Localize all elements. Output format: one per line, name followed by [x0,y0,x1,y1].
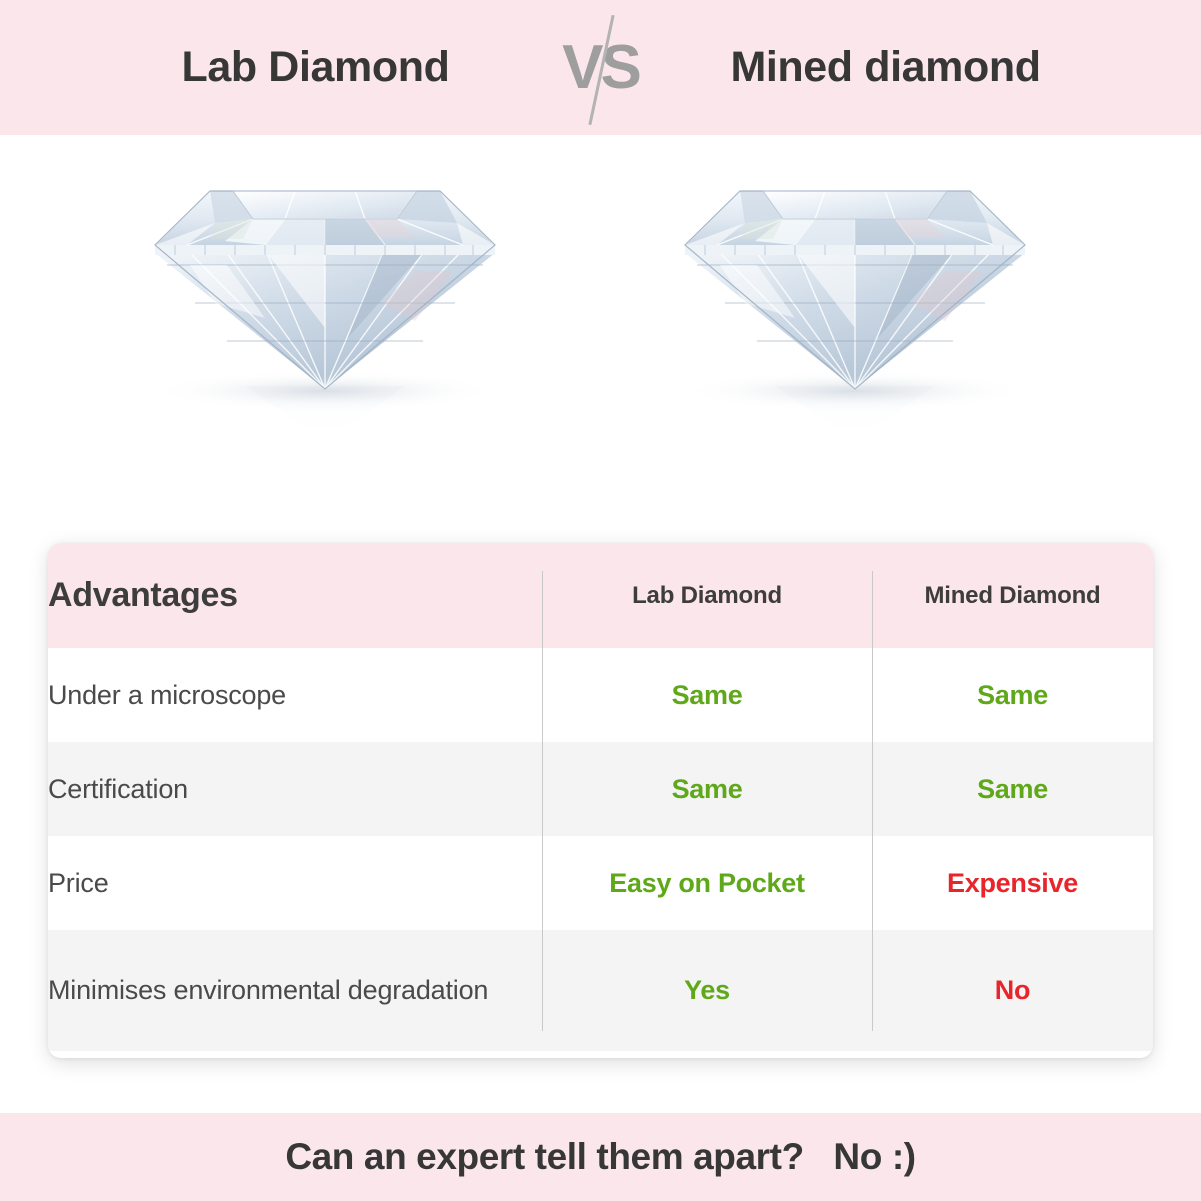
column-divider-1 [542,571,543,1031]
mined-diamond-image [645,153,1065,453]
diamond-image-stage [0,135,1201,535]
row-feature-label: Under a microscope [48,648,542,742]
row-mined-value: Same [872,648,1153,742]
diamond-illustration [645,153,1065,453]
comparison-card: Advantages Lab Diamond Mined Diamond Und… [48,543,1153,1058]
row-lab-value: Easy on Pocket [542,836,872,930]
table-row: Price Easy on Pocket Expensive [48,836,1153,930]
table-row: Certification Same Same [48,742,1153,836]
row-feature-label: Price [48,836,542,930]
infographic-page: Lab Diamond VS Mined diamond [0,0,1201,1201]
row-mined-value: Expensive [872,836,1153,930]
row-lab-value: Same [542,648,872,742]
header-lab-diamond: Lab Diamond [542,543,872,648]
column-divider-2 [872,571,873,1031]
row-feature-label: Certification [48,742,542,836]
table-body: Under a microscope Same Same Certificati… [48,648,1153,1051]
row-mined-value: No [872,930,1153,1051]
header-advantages: Advantages [48,543,542,648]
lab-diamond-title: Lab Diamond [96,43,536,92]
versus-badge: VS [536,8,666,128]
diamond-illustration [115,153,535,453]
row-lab-value: Yes [542,930,872,1051]
header-mined-diamond: Mined Diamond [872,543,1153,648]
table-row: Minimises environmental degradation Yes … [48,930,1153,1051]
table-row: Under a microscope Same Same [48,648,1153,742]
lab-diamond-image [115,153,535,453]
top-banner: Lab Diamond VS Mined diamond [0,0,1201,135]
bottom-banner: Can an expert tell them apart? No :) [0,1113,1201,1201]
row-feature-label: Minimises environmental degradation [48,930,542,1051]
row-lab-value: Same [542,742,872,836]
table-header-row: Advantages Lab Diamond Mined Diamond [48,543,1153,648]
row-mined-value: Same [872,742,1153,836]
comparison-table: Advantages Lab Diamond Mined Diamond Und… [48,543,1153,1051]
table-header: Advantages Lab Diamond Mined Diamond [48,543,1153,648]
mined-diamond-title: Mined diamond [666,43,1106,92]
expert-question-text: Can an expert tell them apart? No :) [285,1136,915,1178]
